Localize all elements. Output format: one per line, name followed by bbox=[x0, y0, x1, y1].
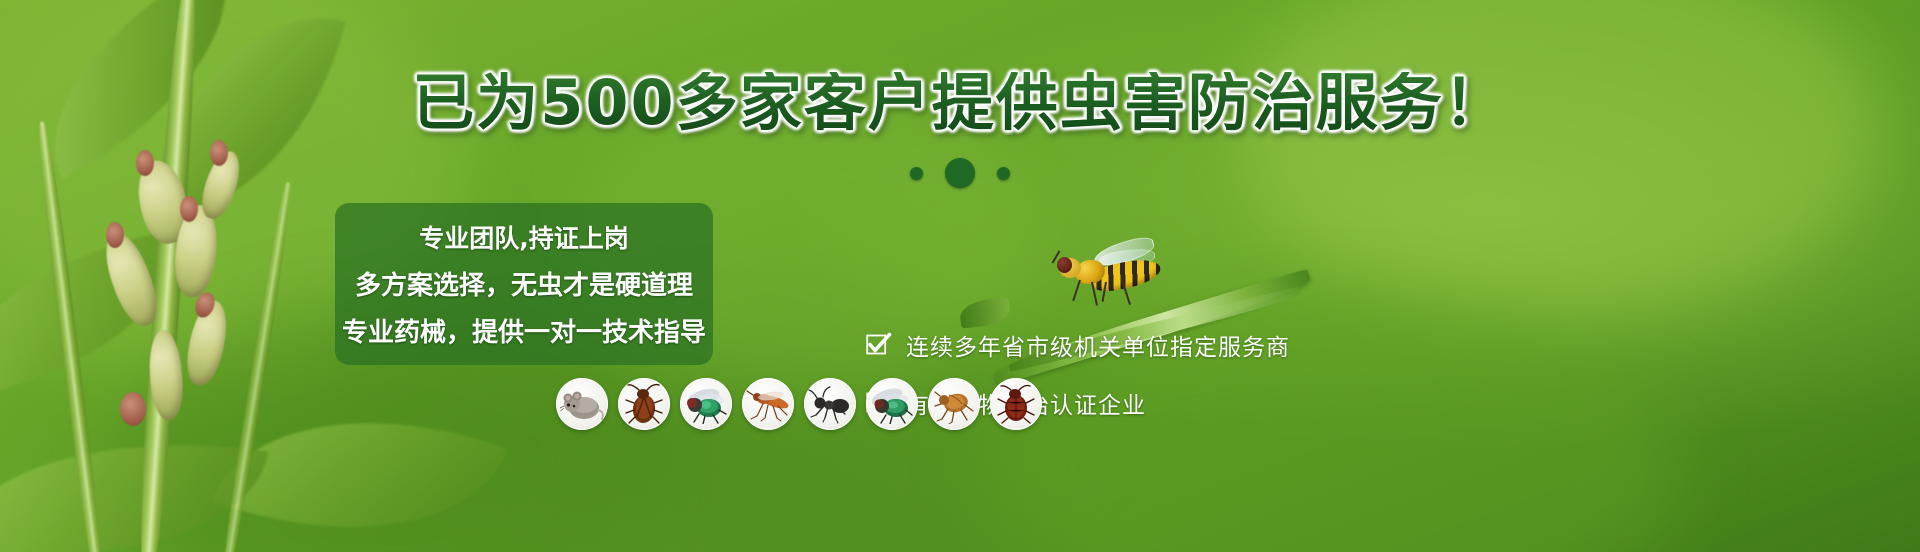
wasp-abdomen bbox=[1089, 255, 1163, 295]
checklist-item: 连续多年省市级机关单位指定服务商 bbox=[866, 328, 1290, 362]
panel-line-3: 专业药械，提供一对一技术指导 bbox=[342, 312, 706, 349]
leaf-shape bbox=[0, 229, 199, 400]
wasp-wing bbox=[1091, 234, 1156, 270]
pest-control-banner: 已为500多家客户提供虫害防治服务！ 专业团队,持证上岗 多方案选择，无虫才是硬… bbox=[0, 0, 1920, 552]
panel-line-1: 专业团队,持证上岗 bbox=[419, 219, 629, 255]
wasp-thorax bbox=[1073, 258, 1107, 287]
pest-icon-circle-housefly[interactable]: 苍蝇 bbox=[866, 378, 918, 430]
flower-bud bbox=[147, 329, 185, 421]
dot-small-left-icon bbox=[910, 167, 923, 180]
pest-icon-row: 鼠 蟑螂 bbox=[556, 378, 1042, 430]
pest-icon-circle-mouse[interactable]: 鼠 bbox=[556, 378, 608, 430]
leaf-shape bbox=[212, 360, 508, 552]
panel-line-2: 多方案选择，无虫才是硬道理 bbox=[355, 265, 693, 302]
wasp-eye bbox=[1057, 257, 1072, 273]
bud-tip bbox=[106, 222, 124, 248]
pest-icon-circle-cockroach[interactable]: 蟑螂 bbox=[618, 378, 670, 430]
dot-large-center-icon bbox=[945, 158, 975, 188]
wasp-head bbox=[1059, 258, 1081, 278]
stem-shape bbox=[219, 181, 295, 552]
pest-icon-circle-ant[interactable]: 蚂蚁 bbox=[804, 378, 856, 430]
checkbox-checked-icon bbox=[866, 332, 892, 358]
flower-bud bbox=[181, 297, 232, 388]
decorative-dots bbox=[0, 158, 1920, 188]
bud-tip bbox=[192, 290, 218, 321]
wasp-leg bbox=[1072, 280, 1081, 302]
wasp-leg bbox=[1102, 282, 1107, 302]
wasp-leg bbox=[1121, 280, 1131, 305]
leaf-shape bbox=[0, 410, 268, 552]
pest-icon-circle-bedbug[interactable]: 臭虫 bbox=[990, 378, 1042, 430]
pest-icon-circle-blowfly[interactable]: 绿头苍蝇 bbox=[680, 378, 732, 430]
bud-tip bbox=[180, 196, 198, 222]
wasp-antenna bbox=[1052, 250, 1061, 263]
pest-icon-circle-mosquito[interactable]: 蚊 bbox=[742, 378, 794, 430]
banner-headline: 已为500多家客户提供虫害防治服务！ bbox=[0, 72, 1920, 134]
checklist-item-label: 连续多年省市级机关单位指定服务商 bbox=[906, 328, 1290, 362]
dot-small-right-icon bbox=[997, 167, 1010, 180]
flower-bud bbox=[171, 203, 220, 299]
selling-points-panel: 专业团队,持证上岗 多方案选择，无虫才是硬道理 专业药械，提供一对一技术指导 bbox=[335, 203, 713, 365]
pest-icon-circle-flea[interactable]: 跳蚤 bbox=[928, 378, 980, 430]
wasp-leg bbox=[1091, 282, 1098, 306]
wasp-wing bbox=[1099, 248, 1156, 268]
wasp-on-leaf-illustration bbox=[1045, 240, 1175, 310]
leaf-blade-tip bbox=[959, 297, 1011, 328]
bud-tip bbox=[120, 392, 146, 426]
flower-bud bbox=[96, 226, 165, 331]
